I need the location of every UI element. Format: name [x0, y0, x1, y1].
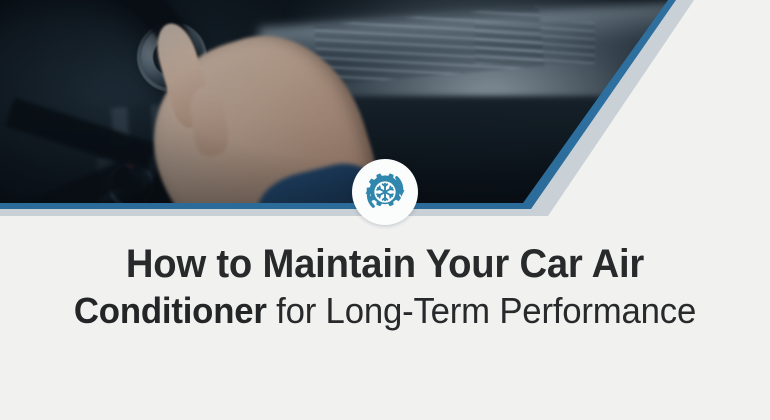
title-line-2-emphasis: Conditioner: [74, 290, 267, 331]
title-line-2: Conditioner for Long-Term Performance: [13, 288, 756, 334]
gear-snowflake-refresh-icon: [352, 159, 418, 225]
title-line-1: How to Maintain Your Car Air: [17, 240, 752, 288]
title-line-2-rest: for Long-Term Performance: [267, 290, 696, 331]
article-hero-banner: How to Maintain Your Car Air Conditioner…: [0, 0, 770, 420]
article-title: How to Maintain Your Car Air Conditioner…: [0, 240, 770, 334]
